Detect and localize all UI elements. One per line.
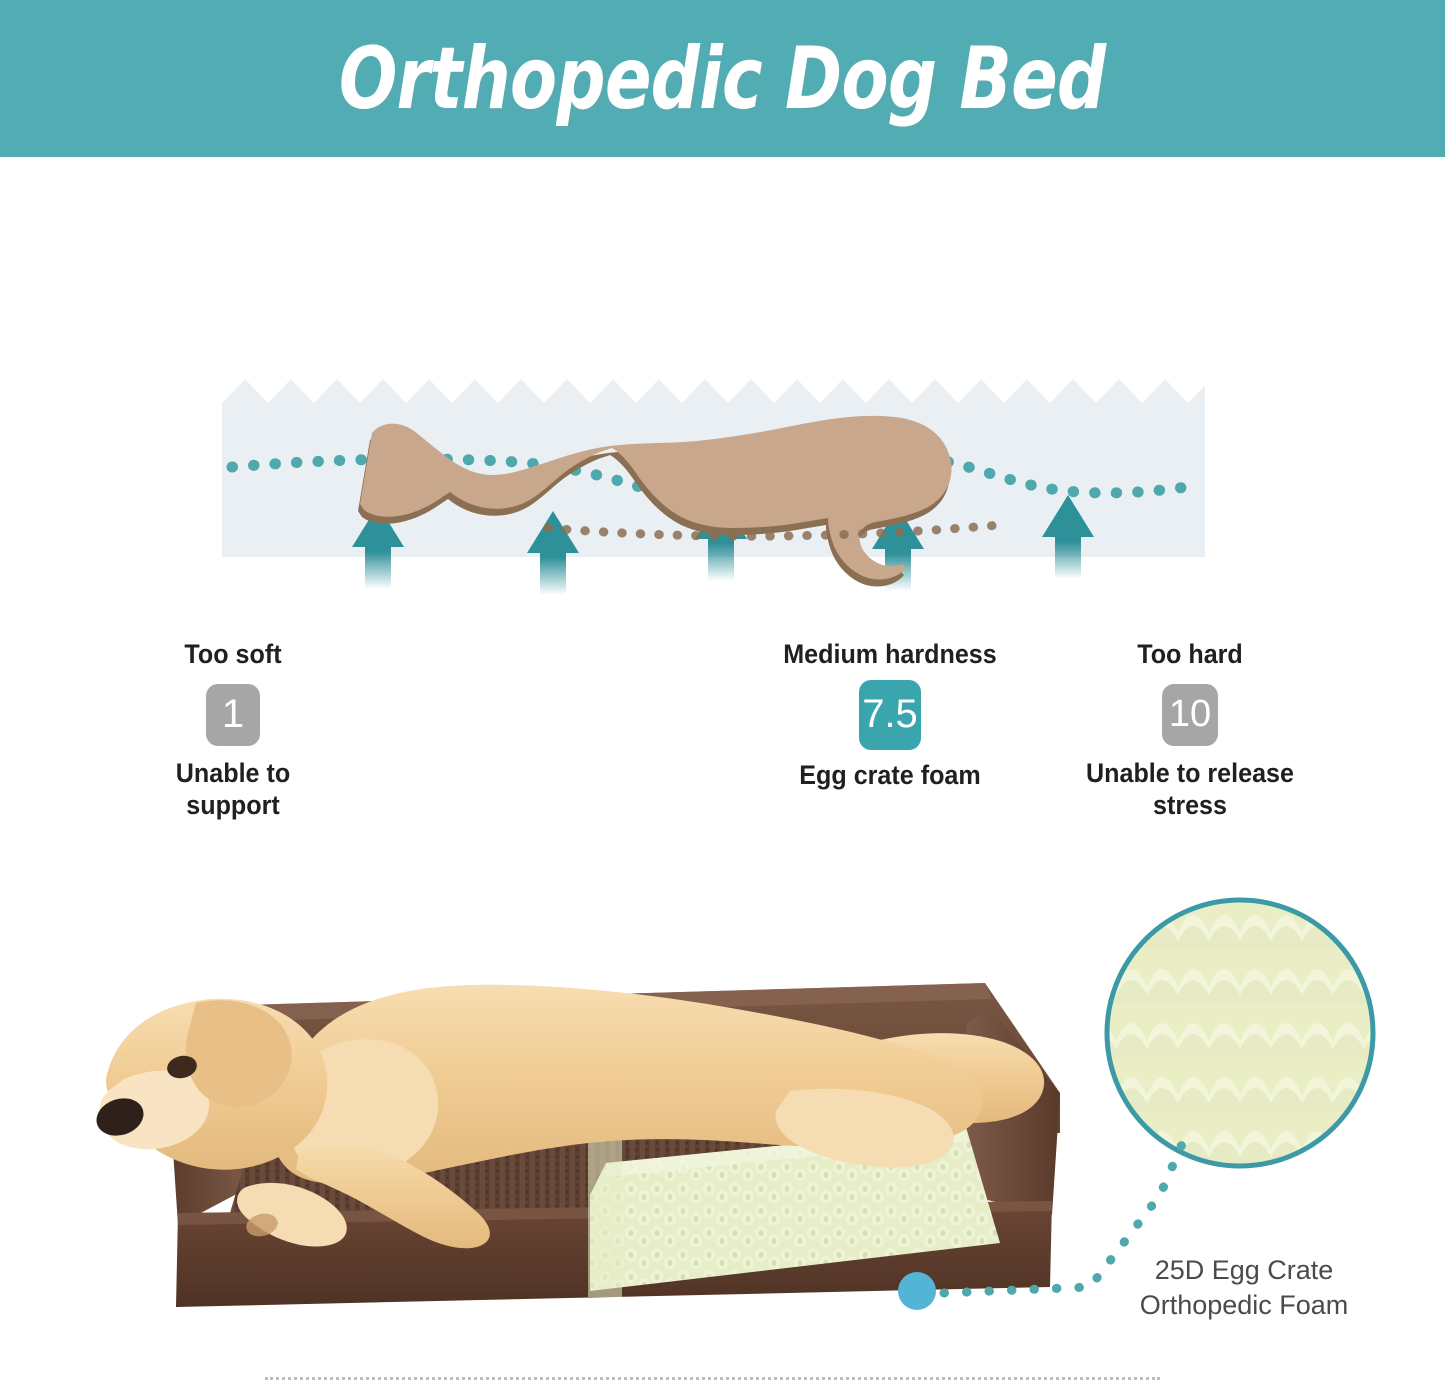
scale-marker-bottom-label: Egg crate foam (769, 760, 1011, 792)
scale-badge-1: 1 (206, 684, 260, 746)
scale-badge-10: 10 (1162, 684, 1218, 746)
callout-caption-line-2: Orthopedic Foam (1104, 1288, 1384, 1323)
scale-marker-top-label: Too hard (1071, 640, 1309, 670)
scale-marker-top-label: Too soft (140, 640, 326, 670)
scale-marker-bottom-label: Unable to release stress (1071, 758, 1309, 822)
hardness-scale: Too soft 1 Unable to support Medium hard… (0, 640, 1445, 870)
callout-caption-line-1: 25D Egg Crate (1104, 1253, 1384, 1288)
foam-marker-dot (898, 1272, 936, 1310)
scale-badge-7-5: 7.5 (859, 680, 921, 750)
egg-crate-foam-zoom-callout (1107, 900, 1373, 1166)
scale-marker-medium-hardness: Medium hardness 7.5 Egg crate foam (760, 640, 1020, 792)
page-title: Orthopedic Dog Bed (339, 29, 1106, 129)
scale-marker-too-hard: Too hard 10 Unable to release stress (1062, 640, 1318, 821)
header-banner: Orthopedic Dog Bed (0, 0, 1445, 157)
callout-caption: 25D Egg Crate Orthopedic Foam (1104, 1253, 1384, 1322)
scale-marker-too-soft: Too soft 1 Unable to support (133, 640, 333, 821)
scale-marker-bottom-label: Unable to support (140, 758, 326, 822)
dog-on-foam-support-diagram (0, 157, 1445, 627)
scale-marker-top-label: Medium hardness (769, 640, 1011, 670)
